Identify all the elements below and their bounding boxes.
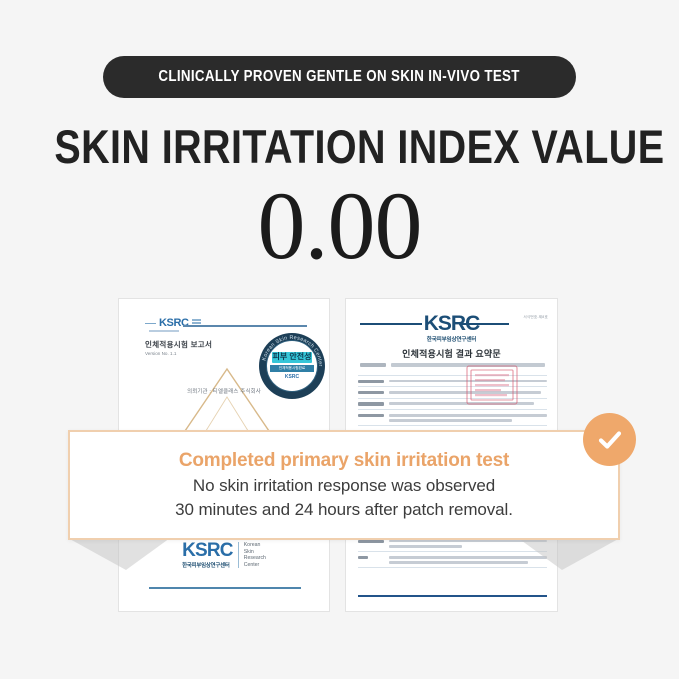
row-label (358, 380, 384, 383)
callout-title: Completed primary skin irritation test (179, 449, 509, 473)
ksrc-logo-small: KSRC (145, 317, 201, 329)
svg-text:Korean Skin Research Center: Korean Skin Research Center (262, 335, 323, 367)
table-row (358, 409, 547, 425)
row-body (389, 414, 547, 422)
ksrc-logo-subtitle-bar (149, 330, 179, 332)
page-title: SKIN IRRITATION INDEX VALUE (54, 122, 624, 171)
ksrc-header: KSRC 한국피부임상연구센터 (346, 313, 557, 343)
client-name-label: 의뢰기관 : 티엘클래스 주식회사 (119, 387, 329, 395)
summary-title: 인체적용시험 결과 요약문 (346, 347, 557, 360)
callout-shadow-wings (30, 536, 650, 576)
banner-text: CLINICALLY PROVEN GENTLE ON SKIN IN-VIVO… (159, 68, 520, 86)
row-label (358, 414, 384, 417)
footer-rule (358, 595, 547, 597)
check-icon (595, 425, 625, 455)
result-callout: Completed primary skin irritation test N… (68, 430, 620, 540)
lead-label-bar (360, 363, 386, 367)
ksrc-logo-text-large: KSRC (346, 313, 557, 334)
row-label (358, 402, 384, 405)
ksrc-logo-korean: 한국피부임상연구센터 (346, 335, 557, 343)
logo-dash-left (145, 323, 156, 324)
callout-line-2: 30 minutes and 24 hours after patch remo… (175, 499, 513, 521)
report-title: 인체적용시험 보고서 (145, 339, 212, 350)
red-seal-stamp (464, 363, 520, 407)
clinical-test-banner: CLINICALLY PROVEN GENTLE ON SKIN IN-VIVO… (103, 56, 576, 98)
header-rule (183, 325, 307, 327)
irritation-index-value: 0.00 (0, 178, 679, 274)
footer-rule (149, 587, 301, 589)
check-badge (583, 413, 636, 466)
ksrc-logo-text: KSRC (159, 317, 189, 329)
report-version: Version No. 1.1 (145, 351, 176, 356)
callout-line-1: No skin irritation response was observed (193, 475, 495, 497)
row-label (358, 391, 384, 394)
page-root: CLINICALLY PROVEN GENTLE ON SKIN IN-VIVO… (0, 0, 679, 679)
